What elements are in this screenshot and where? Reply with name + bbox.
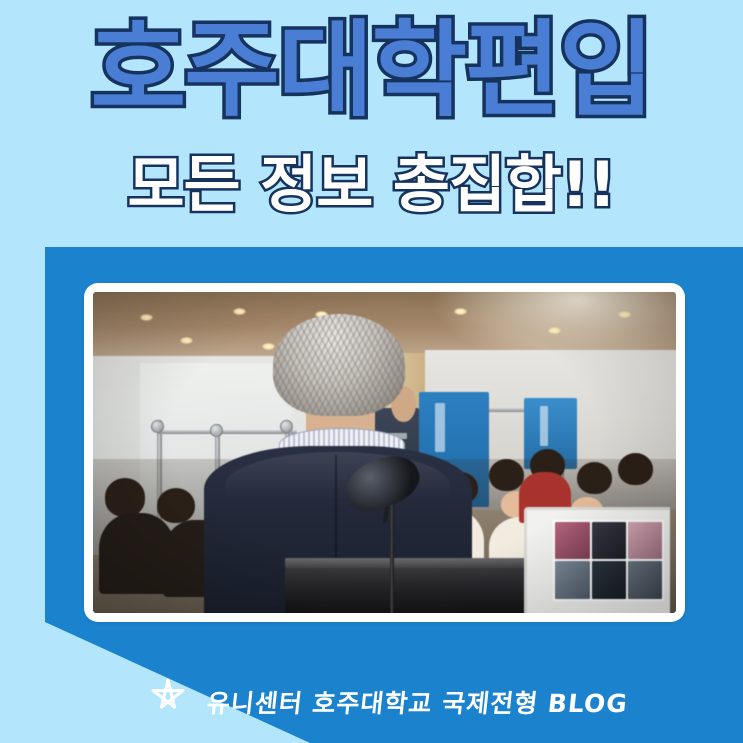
podium	[285, 565, 565, 613]
thumbnail	[555, 522, 589, 559]
audience-head	[618, 453, 653, 485]
speaker-hair-texture	[273, 314, 404, 415]
headline-area: 호주대학편입 모든 정보 총집합!!	[0, 0, 743, 247]
podium-top	[285, 558, 565, 568]
monitor	[524, 507, 670, 613]
thumbnail	[592, 522, 626, 559]
thumbnail	[628, 522, 662, 559]
monitor-screen	[553, 520, 664, 600]
thumbnail	[628, 561, 662, 598]
photo-frame	[84, 283, 685, 622]
footer: 유니센터 호주대학교 국제전형 BLOG	[0, 676, 743, 727]
page-subtitle: 모든 정보 총집합!!	[0, 150, 743, 220]
footer-blog-label: 유니센터 호주대학교 국제전형 BLOG	[205, 684, 630, 720]
star-icon	[145, 676, 191, 727]
event-photo	[93, 292, 676, 613]
page-title: 호주대학편입	[0, 14, 743, 126]
audience-head	[105, 478, 146, 517]
thumbnail	[592, 561, 626, 598]
audience-head	[489, 459, 524, 491]
thumbnail	[555, 561, 589, 598]
promo-card: 호주대학편입 모든 정보 총집합!!	[0, 0, 743, 743]
audience-head	[577, 462, 612, 494]
audience-head	[157, 488, 195, 523]
